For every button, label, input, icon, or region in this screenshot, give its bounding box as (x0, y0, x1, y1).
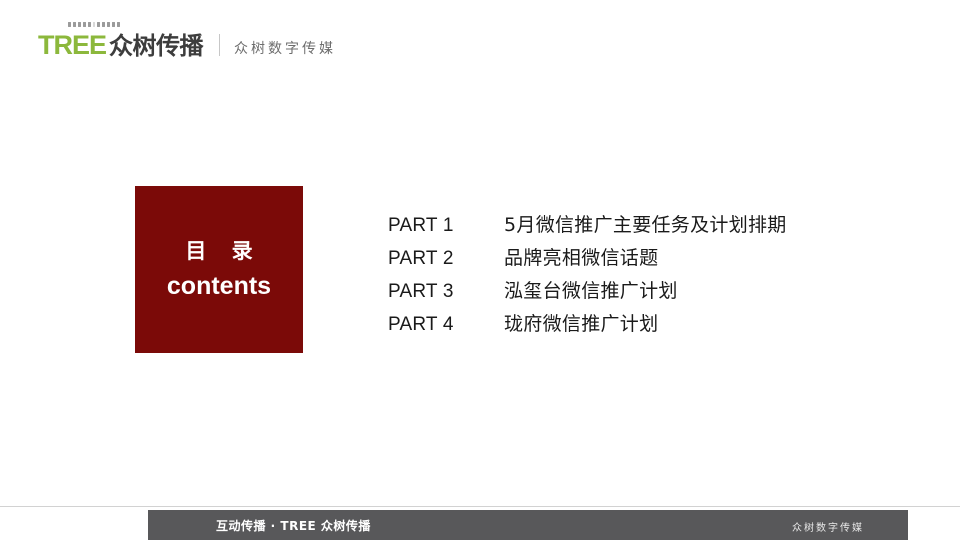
contents-title-english: contents (167, 274, 271, 299)
list-item[interactable]: PART 4 珑府微信推广计划 (388, 309, 868, 342)
table-of-contents-list: PART 1 5月微信推广主要任务及计划排期 PART 2 品牌亮相微信话题 P… (388, 210, 868, 342)
vertical-divider-icon (219, 34, 220, 56)
part-title: 品牌亮相微信话题 (504, 243, 658, 270)
part-label: PART 2 (388, 248, 504, 270)
logo-dots-ornament-icon (68, 22, 120, 27)
list-item[interactable]: PART 2 品牌亮相微信话题 (388, 243, 868, 276)
logo-chinese-text: 众树传播 (109, 34, 203, 58)
footer-right-cap (908, 510, 960, 540)
slide-canvas: TREE 众树传播 众树数字传媒 目 录 contents PART 1 5月微… (0, 0, 960, 540)
part-label: PART 4 (388, 314, 504, 336)
slide-footer: 互动传播 · TREE 众树传播 众树数字传媒 (148, 510, 960, 540)
footer-divider-line (0, 506, 960, 507)
contents-title-chinese: 目 录 (176, 241, 261, 262)
logo-mark: TREE 众树传播 (38, 31, 203, 58)
brand-logo: TREE 众树传播 众树数字传媒 (38, 24, 336, 58)
contents-title-box: 目 录 contents (135, 186, 303, 353)
list-item[interactable]: PART 3 泓玺台微信推广计划 (388, 276, 868, 309)
footer-right-text: 众树数字传媒 (792, 519, 864, 534)
part-label: PART 3 (388, 281, 504, 303)
part-label: PART 1 (388, 215, 504, 237)
part-title: 5月微信推广主要任务及计划排期 (504, 210, 787, 237)
part-title: 泓玺台微信推广计划 (504, 276, 678, 303)
logo-latin-text: TREE (38, 32, 106, 59)
logo-subbrand-text: 众树数字传媒 (234, 42, 336, 56)
part-title: 珑府微信推广计划 (504, 309, 658, 336)
list-item[interactable]: PART 1 5月微信推广主要任务及计划排期 (388, 210, 868, 243)
slide-header: TREE 众树传播 众树数字传媒 (0, 0, 960, 72)
footer-left-text: 互动传播 · TREE 众树传播 (216, 517, 371, 534)
